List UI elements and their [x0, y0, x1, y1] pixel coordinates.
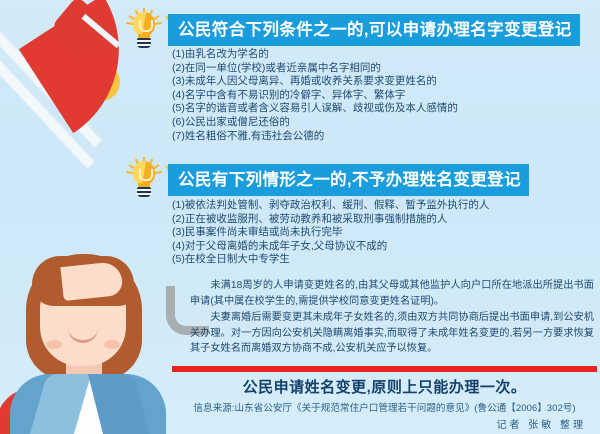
section-1-list: (1)由乳名改为学名的 (2)在同一单位(学校)或者近亲属中名字相同的 (3)未… [172, 48, 458, 143]
list-item: (5)名字的谐音或者含义容易引人误解、歧视或伤及本人感情的 [172, 102, 458, 116]
infographic-page: 公民符合下列条件之一的,可以申请办理名字变更登记 (1)由乳名改为学名的 (2)… [0, 0, 600, 434]
list-item: (3)未成年人因父母离异、再婚或收养关系要求变更姓名的 [172, 75, 458, 89]
byline: 记者 张敏 整理 [496, 416, 586, 431]
woman-illustration [8, 252, 188, 434]
list-item: (3)民事案件尚未审结或尚未执行完毕 [172, 226, 489, 240]
list-item: (7)姓名粗俗不雅,有违社会公德的 [172, 130, 458, 144]
list-item: (4)名字中含有不易识别的冷僻字、异体字、繁体字 [172, 89, 458, 103]
conclusion-text: 公民申请姓名变更,原则上只能办理一次。 [172, 376, 597, 397]
list-item: (2)在同一单位(学校)或者近亲属中名字相同的 [172, 62, 458, 76]
source-note: 信息来源:山东省公安厅《关于规范常住户口管理若干问题的意见》(鲁公通【2006】… [172, 400, 597, 414]
body-paragraph: 夫妻离婚后需要变更其未成年子女姓名的,须由双方共同协商后提出书面申请,到公安机关… [190, 310, 594, 357]
list-item: (5)在校全日制大中专学生 [172, 253, 489, 267]
lightbulb-icon [124, 155, 164, 199]
red-divider [172, 366, 597, 372]
section-2-title: 公民有下列情形之一的,不予办理姓名变更登记 [168, 164, 529, 196]
list-item: (1)被依法判处管制、剥夺政治权利、缓刑、假释、暂予监外执行的人 [172, 199, 489, 213]
body-text: 未满18周岁的人申请变更姓名的,由其父母或其他监护人向户口所在地派出所提出书面申… [190, 278, 594, 358]
list-item: (1)由乳名改为学名的 [172, 48, 458, 62]
section-2-list: (1)被依法判处管制、剥夺政治权利、缓刑、假释、暂予监外执行的人 (2)正在被收… [172, 199, 489, 267]
list-item: (6)公民出家或僧尼还俗的 [172, 116, 458, 130]
list-item: (2)正在被收监服刑、被劳动教养和被采取刑事强制措施的人 [172, 213, 489, 227]
list-item: (4)对于父母离婚的未成年子女,父母协议不成的 [172, 240, 489, 254]
lightbulb-icon [124, 6, 164, 50]
body-paragraph: 未满18周岁的人申请变更姓名的,由其父母或其他监护人向户口所在地派出所提出书面申… [190, 278, 594, 309]
section-1-title: 公民符合下列条件之一的,可以申请办理名字变更登记 [168, 14, 580, 46]
